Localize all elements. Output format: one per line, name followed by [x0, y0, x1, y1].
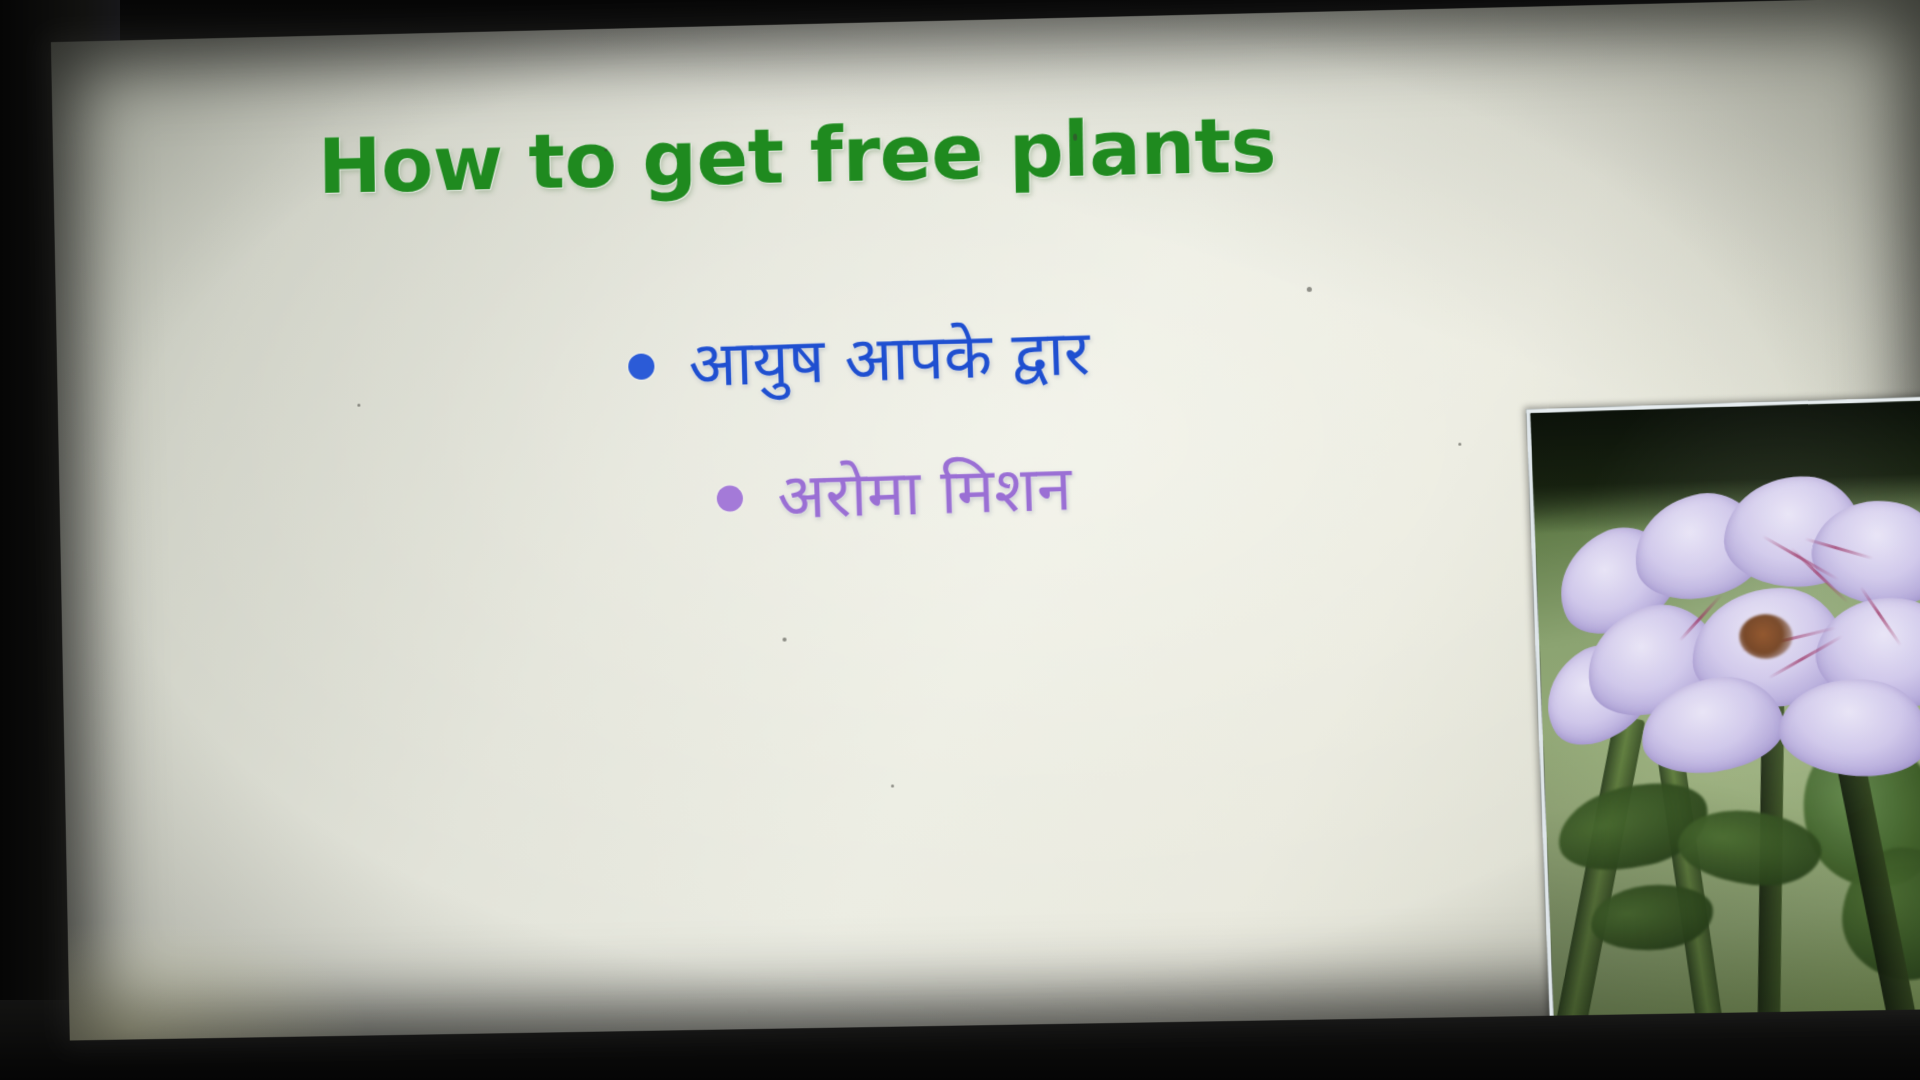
- slide-content: How to get free plants आयुष आपके द्वार अ…: [51, 0, 1920, 1041]
- bullet-list: आयुष आपके द्वार अरोमा मिशन: [356, 312, 1371, 603]
- filled-disc-bullet-icon: [628, 353, 655, 380]
- screen-speck: [782, 638, 786, 642]
- slide-title: How to get free plants: [294, 104, 1300, 207]
- filled-disc-bullet-icon: [717, 486, 744, 513]
- screen-speck: [1458, 443, 1461, 446]
- screen-speck: [891, 784, 894, 787]
- screen-speck: [1307, 287, 1312, 292]
- projector-photo-frame: How to get free plants आयुष आपके द्वार अ…: [0, 0, 1920, 1080]
- list-item: आयुष आपके द्वार: [356, 307, 1366, 412]
- photo-background: [1530, 400, 1920, 1030]
- scented-geranium-flower-photo: [1526, 396, 1920, 1030]
- list-item: अरोमा मिशन: [391, 442, 1402, 546]
- stem-shape: [1552, 715, 1645, 1030]
- bullet-text-aroma: अरोमा मिशन: [776, 452, 1072, 535]
- projection-screen: How to get free plants आयुष आपके द्वार अ…: [51, 0, 1920, 1041]
- bullet-text-ayush: आयुष आपके द्वार: [687, 316, 1090, 403]
